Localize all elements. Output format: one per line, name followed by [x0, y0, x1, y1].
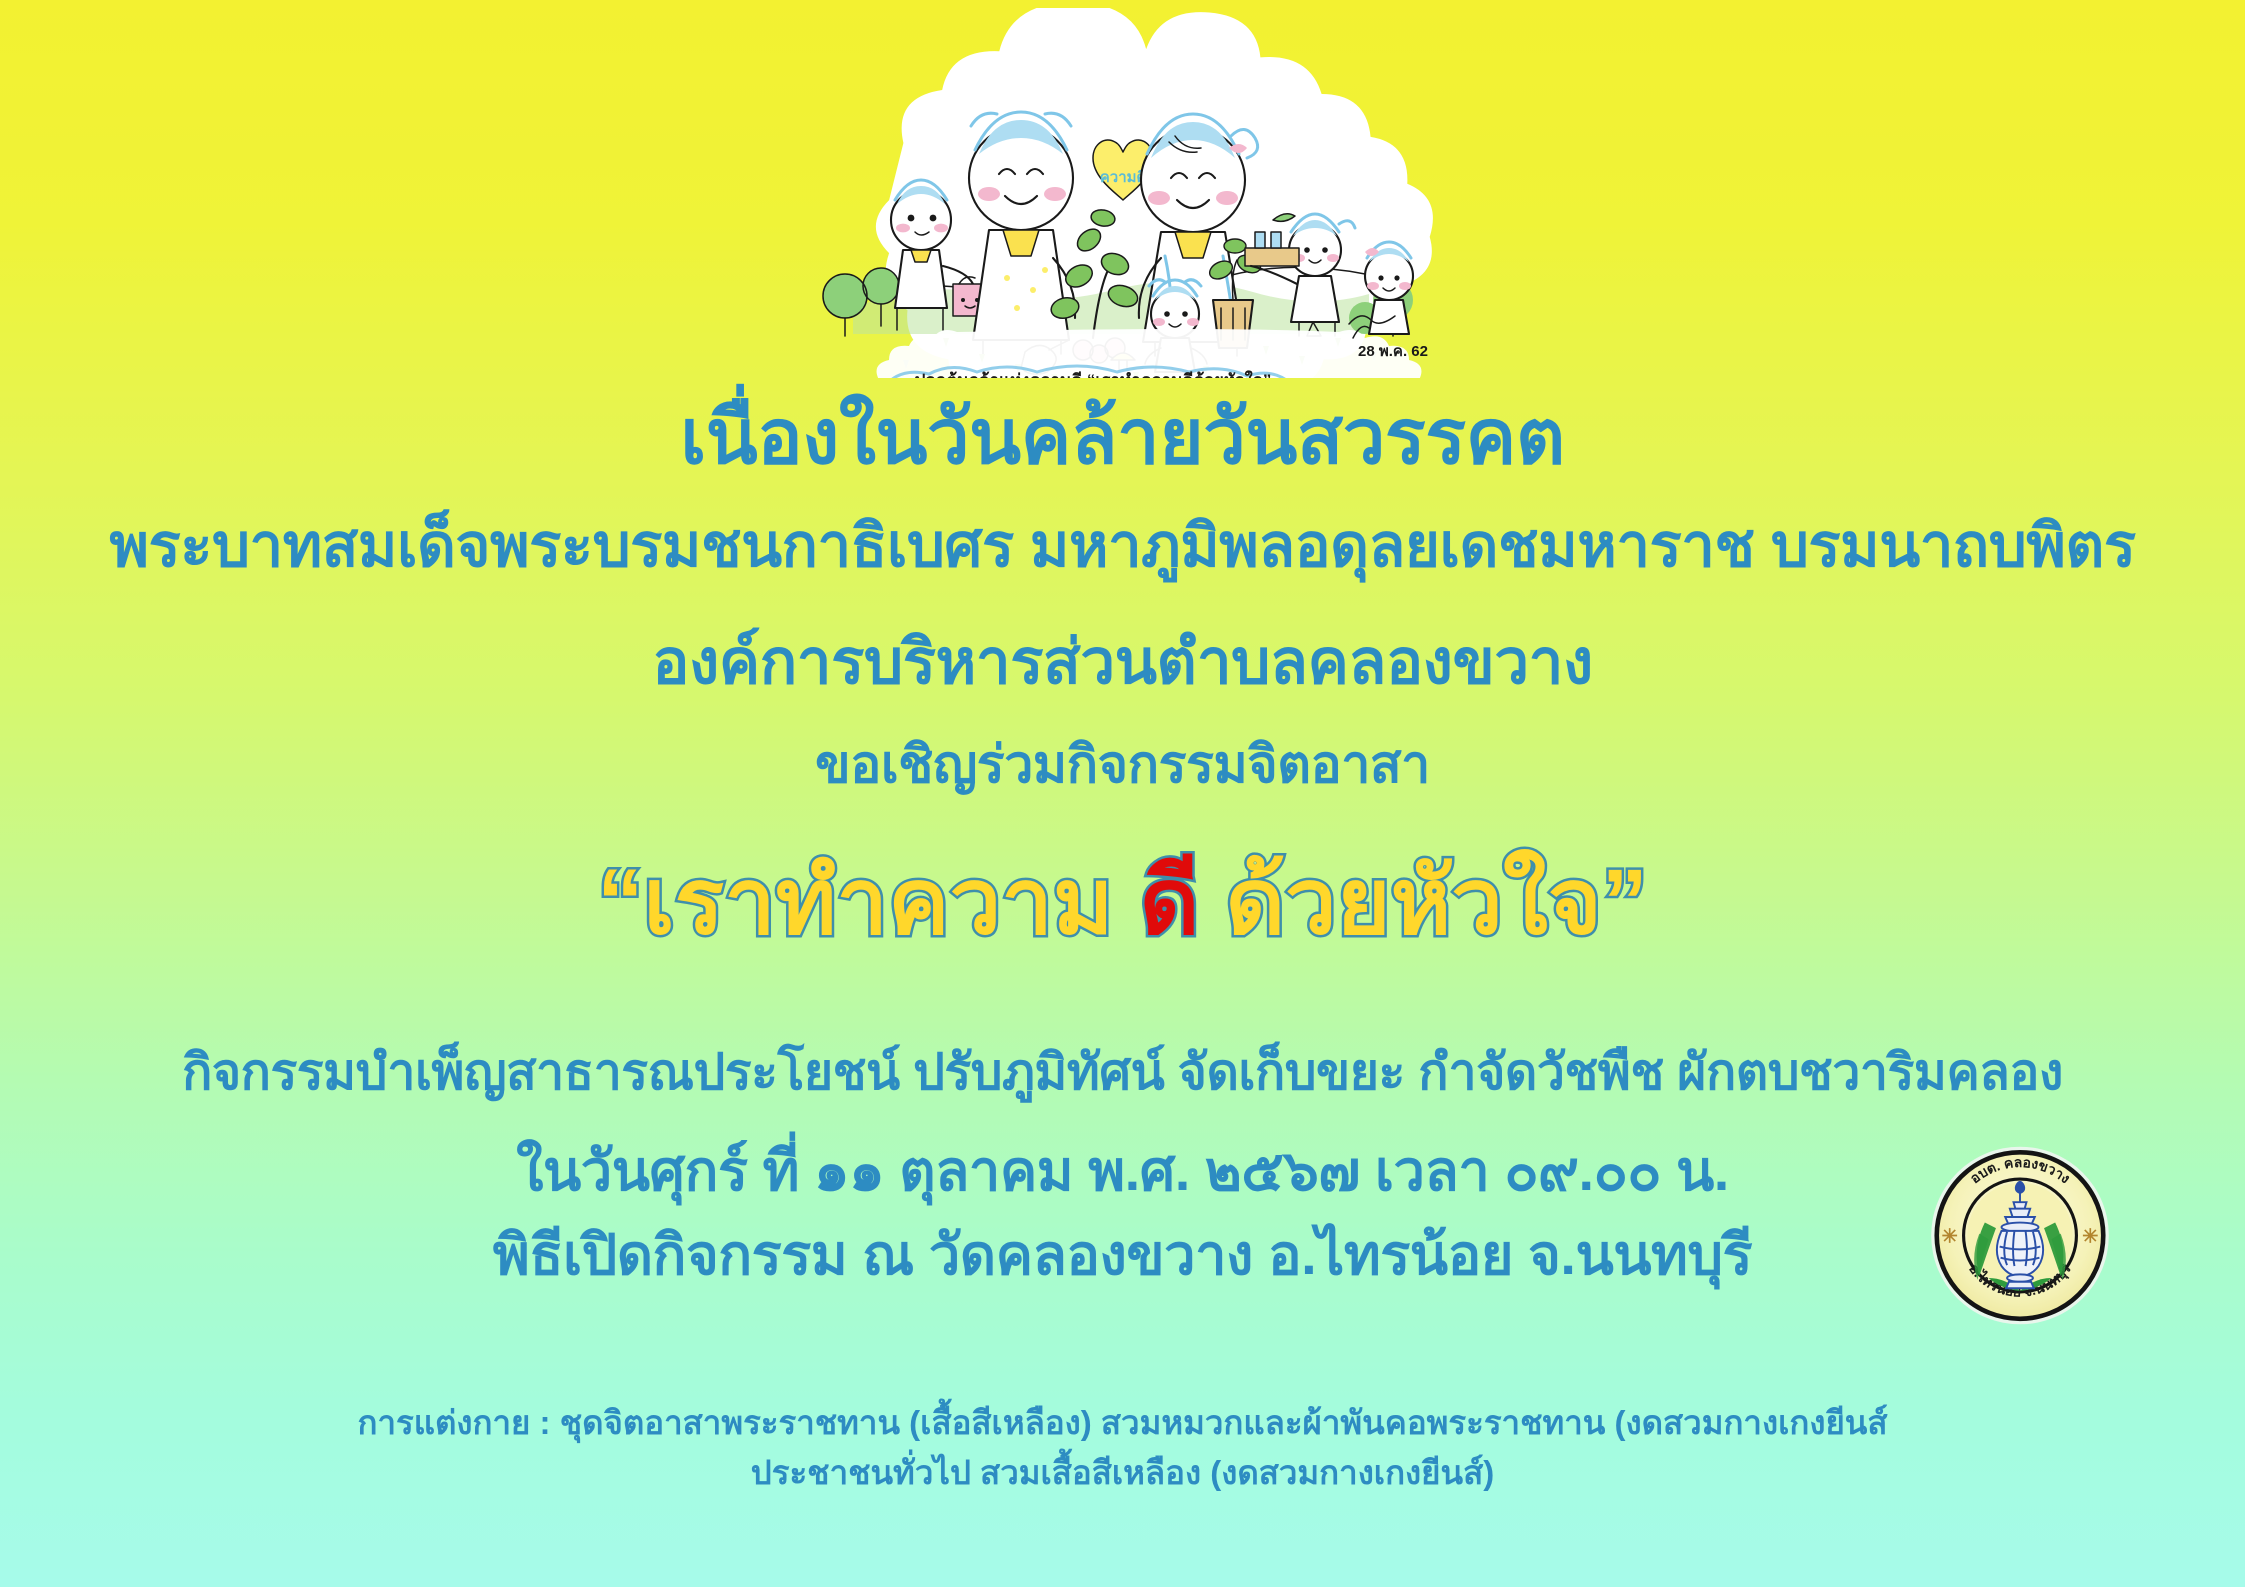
seal-ornament-left [1942, 1228, 1957, 1243]
event-date-time: ในวันศุกร์ ที่ ๑๑ ตุลาคม พ.ศ. ๒๕๖๗ เวลา … [0, 1142, 2245, 1201]
motto-open-quote: “ [597, 851, 643, 953]
dress-code-line-1: การแต่งกาย : ชุดจิตอาสาพระราชทาน (เสื้อส… [0, 1398, 2245, 1448]
motto-accent-word: ดี [1140, 851, 1200, 953]
event-place: พิธีเปิดกิจกรรม ณ วัดคลองขวาง อ.ไทรน้อย … [0, 1226, 2245, 1285]
headline-occasion: เนื่องในวันคล้ายวันสวรรคต [0, 398, 2245, 478]
poster-canvas: .ink{fill:none;stroke:#1a1a1a;stroke-wid… [0, 0, 2245, 1587]
organization-name: องค์การบริหารส่วนตำบลคลองขวาง [0, 630, 2245, 695]
seal-ornament-right [2083, 1228, 2098, 1243]
dress-code-block: การแต่งกาย : ชุดจิตอาสาพระราชทาน (เสื้อส… [0, 1398, 2245, 1497]
signature-date: 28 พ.ค. 62 [1358, 343, 1428, 360]
dress-code-line-2: ประชาชนทั่วไป สวมเสื้อสีเหลือง (งดสวมกาง… [0, 1448, 2245, 1498]
activity-description: กิจกรรมบำเพ็ญสาธารณประโยชน์ ปรับภูมิทัศน… [0, 1046, 2245, 1099]
official-seal-logo: อบต. คลองขวาง อ.ไทรน้อย จ.นนทบุรี [1925, 1143, 2115, 1328]
illustration-caption: ปลูกต้นกล้าแห่งความดี “เราทำความดีด้วยหั… [914, 370, 1271, 378]
motto-part-one: เราทำความ [643, 851, 1113, 953]
invitation-line: ขอเชิญร่วมกิจกรรมจิตอาสา [0, 738, 2245, 793]
motto-part-two: ด้วยหัวใจ [1225, 851, 1601, 953]
heart-label: ความดี [1099, 169, 1146, 186]
motto-close-quote: ” [1602, 851, 1648, 953]
motto-slogan: “เราทำความดีด้วยหัวใจ” [0, 854, 2245, 951]
volunteer-planting-illustration: .ink{fill:none;stroke:#1a1a1a;stroke-wid… [793, 8, 1453, 378]
king-royal-title: พระบาทสมเด็จพระบรมชนกาธิเบศร มหาภูมิพลอด… [0, 514, 2245, 577]
